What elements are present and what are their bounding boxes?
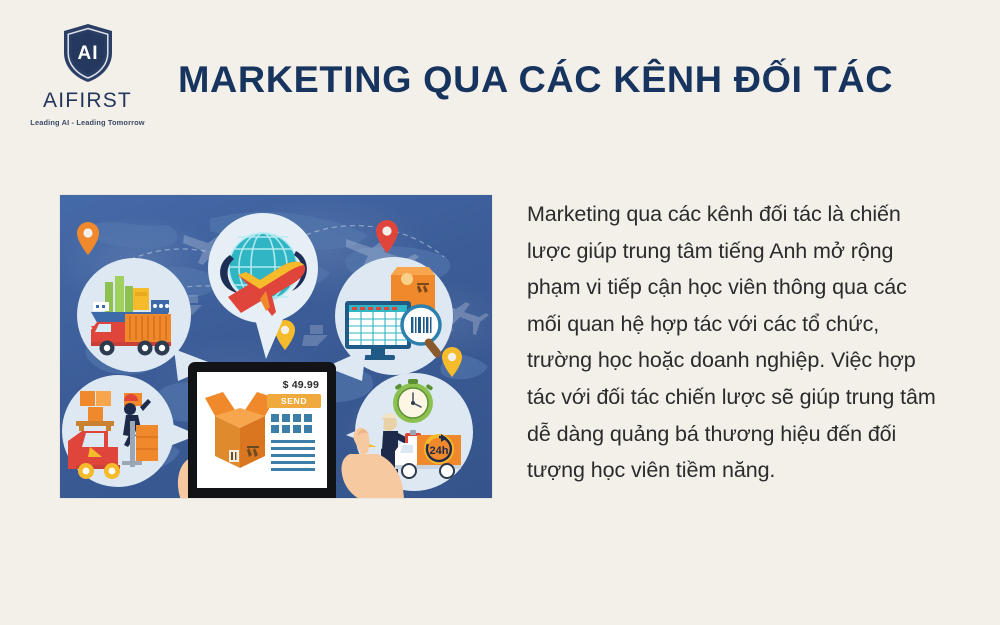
magnifier-barcode-icon xyxy=(402,306,443,359)
option-square[interactable] xyxy=(282,425,290,433)
option-square[interactable] xyxy=(271,414,279,422)
pallet-boxes-icon xyxy=(76,391,114,431)
bubble-globe-airplane xyxy=(208,213,318,323)
map-pin-orange xyxy=(77,222,99,255)
brand-logo: AI AIFIRST Leading AI - Leading Tomorrow xyxy=(20,22,155,137)
brand-tagline: Leading AI - Leading Tomorrow xyxy=(30,118,144,127)
slide-root: AI AIFIRST Leading AI - Leading Tomorrow… xyxy=(0,0,1000,625)
tablet-price: $ 49.99 xyxy=(283,379,319,391)
brand-wordmark: AIFIRST xyxy=(43,89,132,113)
body-paragraph: Marketing qua các kênh đối tác là chiến … xyxy=(527,196,937,489)
illustration-logistics: 24h xyxy=(60,195,492,498)
option-square[interactable] xyxy=(282,414,290,422)
bubble-tail-globe xyxy=(252,315,286,361)
shield-ai-logo-icon: AI xyxy=(60,22,116,84)
send-button[interactable]: SEND xyxy=(267,394,321,408)
slide-header: AI AIFIRST Leading AI - Leading Tomorrow… xyxy=(0,0,1000,150)
option-square[interactable] xyxy=(271,425,279,433)
page-title: MARKETING QUA CÁC KÊNH ĐỐI TÁC xyxy=(178,57,892,103)
svg-text:AI: AI xyxy=(77,43,98,64)
hand-right-pointing-icon xyxy=(300,410,450,498)
